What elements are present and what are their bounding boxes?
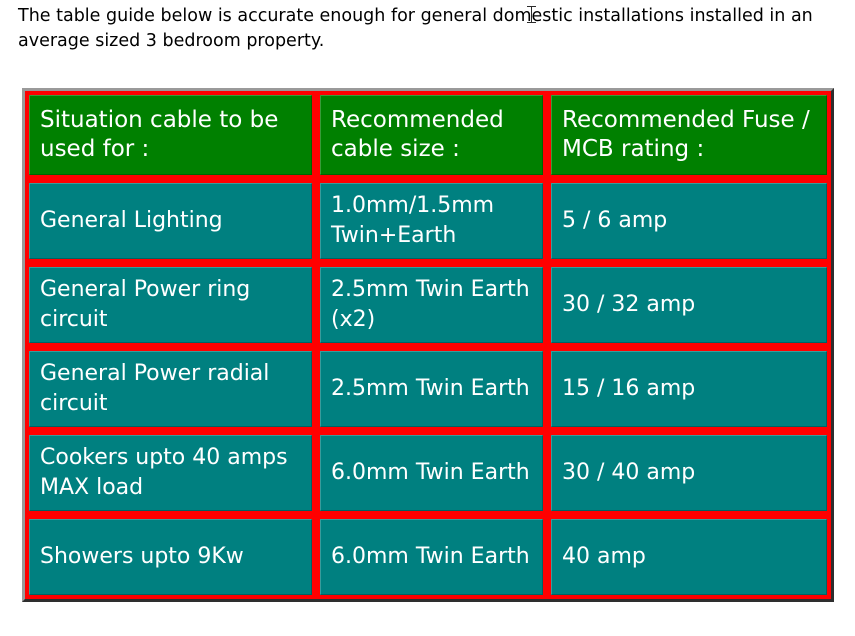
cell-text-situation: General Power ring circuit <box>40 275 301 335</box>
cell-situation: Showers upto 9Kw <box>25 515 316 599</box>
header-cell-cable-size: Recommended cable size : <box>316 91 547 179</box>
cell-fuse-rating: 40 amp <box>547 515 831 599</box>
cell-text-fuse-rating: 5 / 6 amp <box>562 206 667 236</box>
cell-fuse-rating: 30 / 40 amp <box>547 431 831 515</box>
cell-text-situation: Cookers upto 40 amps MAX load <box>40 443 301 503</box>
cell-text-fuse-rating: 30 / 40 amp <box>562 458 695 488</box>
table-row: Showers upto 9Kw 6.0mm Twin Earth 40 amp <box>25 515 831 599</box>
cell-text-cable-size: 6.0mm Twin Earth <box>331 458 530 488</box>
cell-cable-size: 2.5mm Twin Earth (x2) <box>316 263 547 347</box>
header-cell-fuse-rating: Recommended Fuse / MCB rating : <box>547 91 831 179</box>
cell-fuse-rating: 30 / 32 amp <box>547 263 831 347</box>
cell-text-situation: General Lighting <box>40 206 223 236</box>
cable-guide-table-frame: Situation cable to be used for : Recomme… <box>22 88 834 602</box>
cell-text-fuse-rating: 15 / 16 amp <box>562 374 695 404</box>
table-header-row: Situation cable to be used for : Recomme… <box>25 91 831 179</box>
cell-situation: Cookers upto 40 amps MAX load <box>25 431 316 515</box>
header-cell-situation: Situation cable to be used for : <box>25 91 316 179</box>
cell-cable-size: 2.5mm Twin Earth <box>316 347 547 431</box>
cable-guide-table: Situation cable to be used for : Recomme… <box>25 91 831 599</box>
cell-cable-size: 1.0mm/1.5mm Twin+Earth <box>316 179 547 263</box>
cell-situation: General Power ring circuit <box>25 263 316 347</box>
intro-paragraph: The table guide below is accurate enough… <box>18 4 818 54</box>
cell-situation: General Power radial circuit <box>25 347 316 431</box>
cell-text-situation: General Power radial circuit <box>40 359 301 419</box>
table-row: General Lighting 1.0mm/1.5mm Twin+Earth … <box>25 179 831 263</box>
cell-text-fuse-rating: 40 amp <box>562 542 646 572</box>
cell-text-cable-size: 6.0mm Twin Earth <box>331 542 530 572</box>
header-label-cable-size: Recommended cable size : <box>331 106 532 164</box>
header-label-situation: Situation cable to be used for : <box>40 106 301 164</box>
cell-text-fuse-rating: 30 / 32 amp <box>562 290 695 320</box>
table-row: General Power ring circuit 2.5mm Twin Ea… <box>25 263 831 347</box>
table-row: General Power radial circuit 2.5mm Twin … <box>25 347 831 431</box>
cell-text-cable-size: 2.5mm Twin Earth <box>331 374 530 404</box>
cell-text-cable-size: 1.0mm/1.5mm Twin+Earth <box>331 191 532 251</box>
cell-text-situation: Showers upto 9Kw <box>40 542 244 572</box>
cell-situation: General Lighting <box>25 179 316 263</box>
table-row: Cookers upto 40 amps MAX load 6.0mm Twin… <box>25 431 831 515</box>
cell-fuse-rating: 15 / 16 amp <box>547 347 831 431</box>
header-label-fuse-rating: Recommended Fuse / MCB rating : <box>562 106 816 164</box>
cell-cable-size: 6.0mm Twin Earth <box>316 515 547 599</box>
cell-text-cable-size: 2.5mm Twin Earth (x2) <box>331 275 532 335</box>
cell-cable-size: 6.0mm Twin Earth <box>316 431 547 515</box>
cell-fuse-rating: 5 / 6 amp <box>547 179 831 263</box>
